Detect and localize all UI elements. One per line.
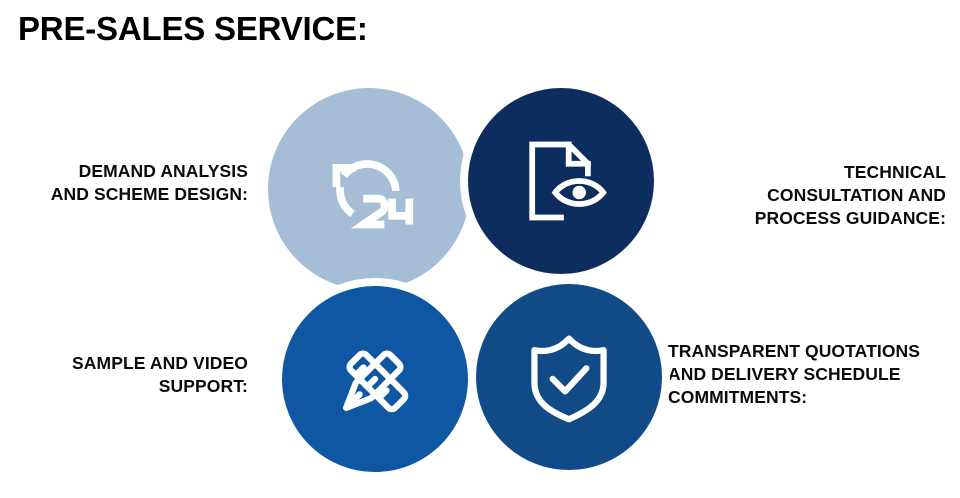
- label-line: SUPPORT:: [18, 375, 248, 398]
- label-line: CONSULTATION AND: [727, 184, 946, 207]
- label-sample-video-support: SAMPLE AND VIDEO SUPPORT:: [18, 352, 248, 398]
- shield-check-icon: [521, 329, 617, 425]
- document-eye-icon: [513, 133, 609, 229]
- pencil-ruler-icon: [327, 331, 423, 427]
- circle-sample-video-support[interactable]: [274, 278, 476, 480]
- label-demand-analysis: DEMAND ANALYSIS AND SCHEME DESIGN:: [18, 160, 248, 206]
- four-circle-diagram: [264, 80, 680, 490]
- clock-24-rotate-icon: [321, 141, 417, 237]
- label-line: DEMAND ANALYSIS: [18, 160, 248, 183]
- circle-transparent-quotations[interactable]: [468, 276, 670, 478]
- circle-demand-analysis[interactable]: [268, 88, 470, 290]
- label-line: AND DELIVERY SCHEDULE: [668, 363, 960, 386]
- circle-technical-consultation[interactable]: [460, 80, 662, 282]
- label-line: TECHNICAL: [727, 161, 946, 184]
- label-line: TRANSPARENT QUOTATIONS: [668, 340, 960, 363]
- label-line: AND SCHEME DESIGN:: [18, 183, 248, 206]
- label-line: COMMITMENTS:: [668, 386, 960, 409]
- label-transparent-quotations: TRANSPARENT QUOTATIONS AND DELIVERY SCHE…: [668, 340, 960, 409]
- label-technical-consultation: TECHNICAL CONSULTATION AND PROCESS GUIDA…: [727, 161, 946, 230]
- label-line: SAMPLE AND VIDEO: [18, 352, 248, 375]
- page-title: PRE-SALES SERVICE:: [18, 10, 368, 48]
- label-line: PROCESS GUIDANCE:: [727, 207, 946, 230]
